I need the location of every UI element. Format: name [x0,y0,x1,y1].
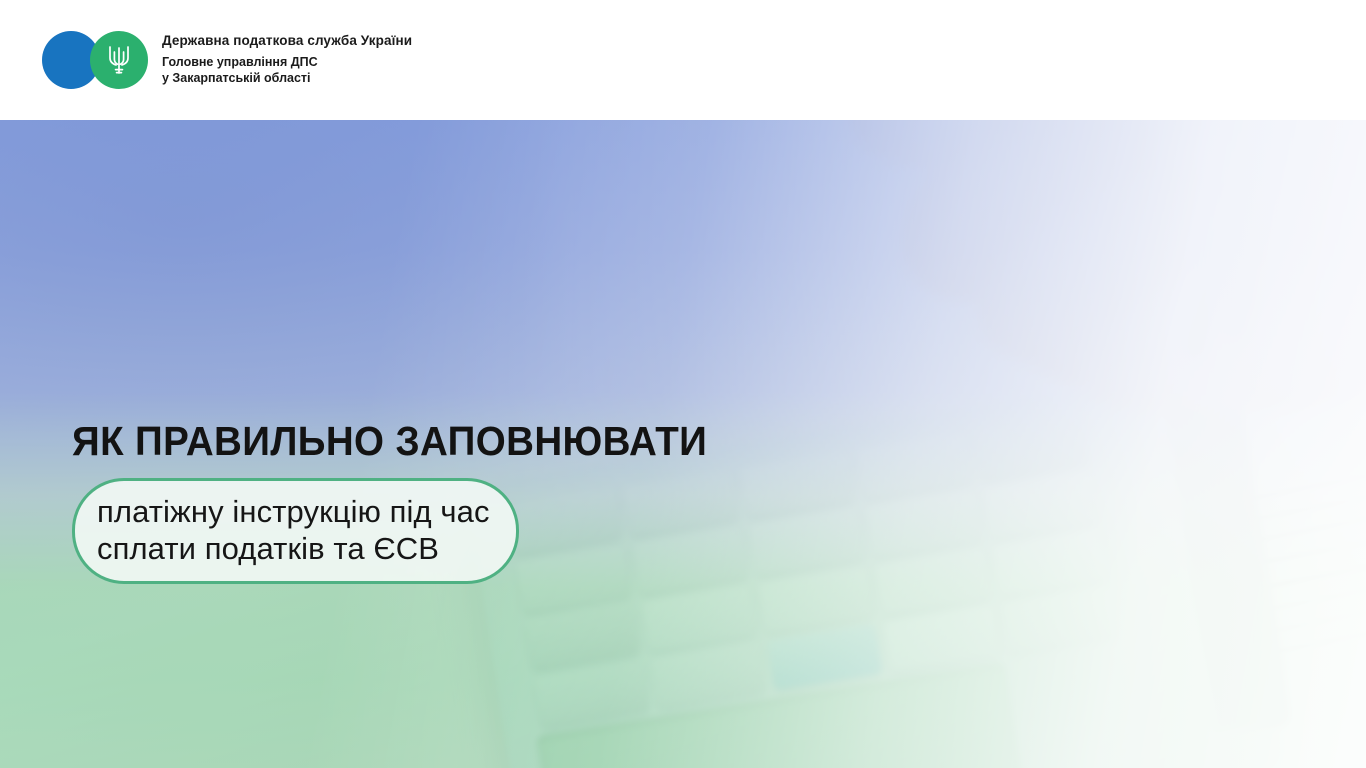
logo-text: Державна податкова служба України Головн… [162,33,412,87]
hero-subtitle-pill: платіжну інструкцію під час сплати подат… [72,478,519,584]
logo-marks [42,31,148,89]
hero-subtitle: платіжну інструкцію під час сплати подат… [97,493,490,567]
logo-block[interactable]: Державна податкова служба України Головн… [42,31,412,89]
organization-subtitle-line2: у Закарпатській області [162,70,412,87]
site-header: Державна податкова служба України Головн… [0,0,1366,120]
trident-icon [90,31,148,89]
banner-page: Державна податкова служба України Головн… [0,0,1366,768]
organization-title: Державна податкова служба України [162,33,412,50]
organization-subtitle: Головне управління ДПС у Закарпатській о… [162,54,412,87]
hero-banner: ЯК ПРАВИЛЬНО ЗАПОВНЮВАТИ платіжну інстру… [0,120,1366,768]
hero-text-block: ЯК ПРАВИЛЬНО ЗАПОВНЮВАТИ платіжну інстру… [72,420,712,584]
hero-title: ЯК ПРАВИЛЬНО ЗАПОВНЮВАТИ [72,420,674,463]
hero-subtitle-line1: платіжну інструкцію під час [97,493,490,530]
organization-subtitle-line1: Головне управління ДПС [162,54,412,71]
hero-subtitle-line2: сплати податків та ЄСВ [97,530,490,567]
